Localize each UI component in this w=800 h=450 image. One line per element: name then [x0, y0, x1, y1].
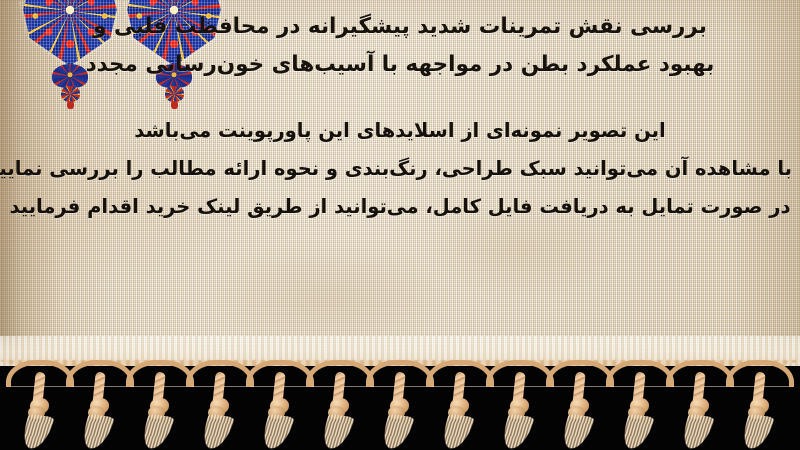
tassel-skirt	[19, 414, 54, 450]
tassel-skirt	[439, 414, 474, 450]
tassel-skirt	[679, 414, 714, 450]
tassel	[22, 360, 68, 450]
tassel-skirt	[739, 414, 774, 450]
slide-body: این تصویر نمونه‌ای از اسلایدهای این پاور…	[8, 112, 792, 226]
tassel	[322, 360, 368, 450]
tassel-skirt	[79, 414, 114, 450]
slide-title: بررسی نقش تمرینات شدید پیشگیرانه در محاف…	[10, 8, 790, 84]
title-line-2: بهبود عملکرد بطن در مواجهه با آسیب‌های خ…	[10, 46, 790, 84]
tassel-skirt	[619, 414, 654, 450]
tassel	[682, 360, 728, 450]
tassel-skirt	[319, 414, 354, 450]
tassel-skirt	[139, 414, 174, 450]
slide-text-layer: بررسی نقش تمرینات شدید پیشگیرانه در محاف…	[0, 0, 800, 372]
tassel-skirt	[499, 414, 534, 450]
tassel	[262, 360, 308, 450]
body-line-3: در صورت تمایل به دریافت فایل کامل، می‌تو…	[8, 188, 792, 226]
slide-canvas: بررسی نقش تمرینات شدید پیشگیرانه در محاف…	[0, 0, 800, 450]
knotted-tassel-fringe	[0, 360, 800, 450]
tassel	[202, 360, 248, 450]
tassel-skirt	[559, 414, 594, 450]
tassel	[622, 360, 668, 450]
tassel-skirt	[199, 414, 234, 450]
tassel	[502, 360, 548, 450]
body-line-1: این تصویر نمونه‌ای از اسلایدهای این پاور…	[8, 112, 792, 150]
tassel	[82, 360, 128, 450]
tassel	[442, 360, 488, 450]
title-line-1: بررسی نقش تمرینات شدید پیشگیرانه در محاف…	[10, 8, 790, 46]
tassel	[142, 360, 188, 450]
body-line-2: با مشاهده آن می‌توانید سبک طراحی، رنگ‌بن…	[8, 150, 792, 188]
tassel	[742, 360, 788, 450]
tassel	[382, 360, 428, 450]
tassel-skirt	[379, 414, 414, 450]
tassel-skirt	[259, 414, 294, 450]
tassel	[562, 360, 608, 450]
